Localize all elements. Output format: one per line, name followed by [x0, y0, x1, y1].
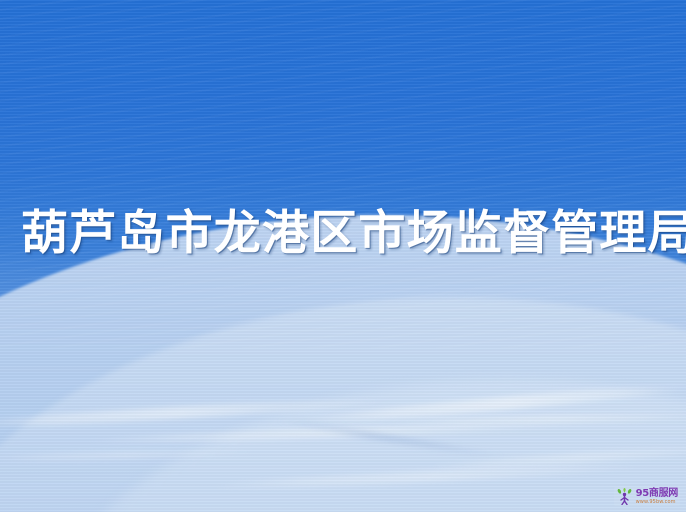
watermark-text-block: 95商服网 www.95bw.com — [636, 489, 678, 505]
watermark: 95商服网 www.95bw.com — [614, 487, 680, 506]
watermark-site-name: 95商服网 — [636, 489, 678, 499]
page-title: 葫芦岛市龙港区市场监督管理局 — [21, 206, 686, 262]
sprout-person-logo-icon — [616, 488, 633, 505]
agency-banner: 葫芦岛市龙港区市场监督管理局 95商服网 www.95bw.com — [0, 0, 686, 512]
watermark-site-url: www.95bw.com — [636, 500, 678, 505]
